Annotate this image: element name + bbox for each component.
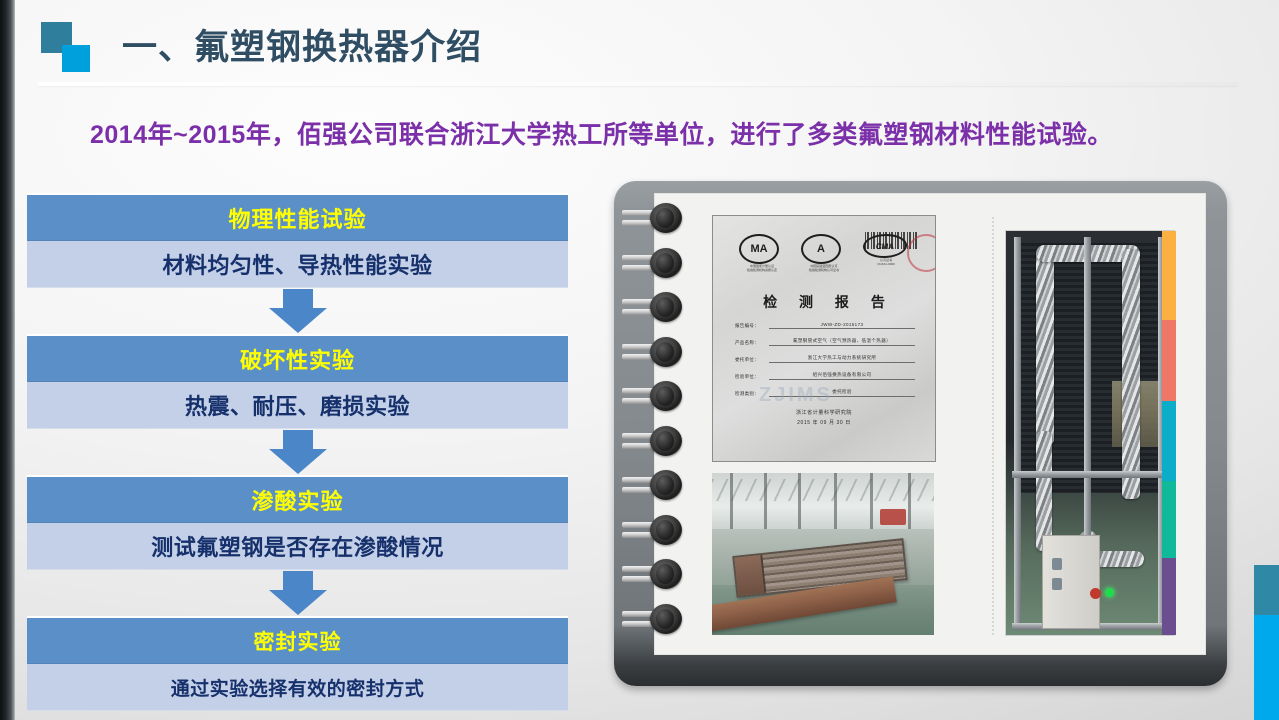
header-divider [38,82,1238,86]
insulated-pipe-left-vertical [1036,249,1054,445]
a-mark-icon: A [801,234,841,264]
right-accent-block-bottom [1254,615,1279,720]
red-seal-stamp-icon [907,234,936,272]
flow-step-4-title: 密封实验 [254,626,342,656]
report-row: 检验单位： 绍兴佰强换热设备有限公司 [735,372,915,380]
flow-step-1[interactable]: 物理性能试验 材料均匀性、导热性能实验 [27,193,568,288]
report-field-value: 浙江大学热工与动力系统研究所 [769,355,915,363]
header-square-secondary-icon [62,45,90,72]
cma-mark-caption: 认可证书CNAS L0000 [863,258,909,266]
notebook-panel: MA 中国国家计量认证检验检测机构资质认定 A 中国实验室国家认可检验检测机构认… [614,181,1227,686]
certification-marks: MA 中国国家计量认证检验检测机构资质认定 A 中国实验室国家认可检验检测机构认… [739,234,889,280]
flow-step-4[interactable]: 密封实验 通过实验选择有效的密封方式 [27,616,568,711]
notebook-page: MA 中国国家计量认证检验检测机构资质认定 A 中国实验室国家认可检验检测机构认… [654,193,1206,655]
cabinet-gauge-icon [1052,578,1062,590]
colorbar-segment-teal-green [1162,481,1176,558]
a-mark-caption: 中国实验室国家认可检验检测机构认可证书 [801,264,847,272]
flow-step-3-header: 渗酸实验 [27,475,568,523]
flow-step-3-body: 测试氟塑钢是否存在渗酸情况 [27,523,568,570]
report-watermark: ZJIMS [759,384,833,407]
report-row: 委托单位： 浙江大学热工与动力系统研究所 [735,355,915,363]
red-forklift [880,509,906,525]
control-cabinet [1042,535,1100,629]
report-row: 报告编号： JWW-ZD-2015173 [735,322,915,329]
spiral-ring [622,292,686,322]
subtitle-text: 2014年~2015年，佰强公司联合浙江大学热工所等单位，进行了多类氟塑钢材料性… [90,115,1200,151]
flow-step-2-body: 热震、耐压、磨损实验 [27,382,568,429]
flow-step-1-desc: 材料均匀性、导热性能实验 [162,248,432,280]
flow-step-4-body: 通过实验选择有效的密封方式 [27,664,568,711]
process-flow: 物理性能试验 材料均匀性、导热性能实验 破坏性实验 热震、耐压、磨损实验 [27,193,568,711]
flow-arrow-2 [27,429,568,475]
cma-mark-icon: CMA [862,234,909,258]
color-accent-bar [1162,231,1176,635]
report-field-value: 绍兴佰强换热设备有限公司 [769,372,915,380]
report-field-label: 检验单位： [735,374,769,380]
flow-step-3[interactable]: 渗酸实验 测试氟塑钢是否存在渗酸情况 [27,475,568,570]
report-issuer: 浙江省计量科学研究院 [713,408,935,418]
photo-collage: MA 中国国家计量认证检验检测机构资质认定 A 中国实验室国家认可检验检测机构认… [706,209,1186,643]
flow-step-1-body: 材料均匀性、导热性能实验 [27,241,568,288]
report-date: 2015 年 09 月 30 日 [713,418,935,428]
report-field-value: JWW-ZD-2015173 [769,322,915,329]
test-rig-photo[interactable] [1006,231,1174,635]
report-title: 检 测 报 告 [713,292,935,312]
flow-step-1-title: 物理性能试验 [228,202,366,234]
colorbar-segment-orange [1162,231,1176,320]
right-accent-block-top [1254,565,1279,615]
flow-arrow-1 [27,288,568,334]
flow-arrow-3 [27,570,568,616]
report-field-label: 产品名称： [735,340,769,346]
cabinet-gauge-icon [1052,558,1062,570]
test-report-photo[interactable]: MA 中国国家计量认证检验检测机构资质认定 A 中国实验室国家认可检验检测机构认… [712,215,936,462]
down-arrow-icon [269,571,327,615]
slide-canvas: 一、氟塑钢换热器介绍 2014年~2015年，佰强公司联合浙江大学热工所等单位，… [0,0,1279,720]
emergency-stop-button[interactable] [1090,588,1101,599]
factory-tube-bundle-photo[interactable] [712,473,934,635]
spiral-ring [622,470,686,500]
status-led-icon [1105,588,1114,597]
spiral-ring [622,515,686,545]
insulated-pipe-left-lower [1036,431,1052,551]
spiral-ring [622,337,686,367]
colorbar-segment-cyan [1162,401,1176,482]
colorbar-segment-salmon [1162,320,1176,401]
flow-step-2-header: 破坏性实验 [27,334,568,382]
flow-step-2-title: 破坏性实验 [240,343,355,375]
ma-mark-caption: 中国国家计量认证检验检测机构资质认定 [739,264,785,272]
spiral-ring [622,203,686,233]
spiral-ring [622,381,686,411]
report-field-label: 委托单位： [735,357,769,363]
report-field-value: 氟塑钢管式空气（空气预热器、低温个热器） [769,338,915,346]
flow-step-4-desc: 通过实验选择有效的密封方式 [171,674,425,701]
flow-step-1-header: 物理性能试验 [27,193,568,241]
report-footer: 浙江省计量科学研究院 2015 年 09 月 30 日 [713,408,935,428]
report-row: 产品名称： 氟塑钢管式空气（空气预热器、低温个热器） [735,338,915,346]
spiral-ring [622,426,686,456]
flow-step-3-title: 渗酸实验 [251,484,343,516]
spiral-ring [622,604,686,634]
flow-step-2-desc: 热震、耐压、磨损实验 [185,389,410,421]
spiral-binding [622,203,686,648]
down-arrow-icon [269,289,327,333]
left-edge-bar [0,0,15,720]
roof-truss [712,479,934,501]
flow-step-2[interactable]: 破坏性实验 热震、耐压、磨损实验 [27,334,568,429]
flow-step-3-desc: 测试氟塑钢是否存在渗酸情况 [151,530,444,562]
ma-mark-icon: MA [739,234,779,264]
page-title: 一、氟塑钢换热器介绍 [122,19,482,70]
down-arrow-icon [269,430,327,474]
colorbar-segment-purple [1162,558,1176,635]
flow-step-4-header: 密封实验 [27,616,568,664]
spiral-ring [622,559,686,589]
insulated-pipe-right-vertical [1122,249,1140,499]
column-divider [992,217,994,635]
spiral-ring [622,248,686,278]
report-field-label: 报告编号： [735,323,769,329]
